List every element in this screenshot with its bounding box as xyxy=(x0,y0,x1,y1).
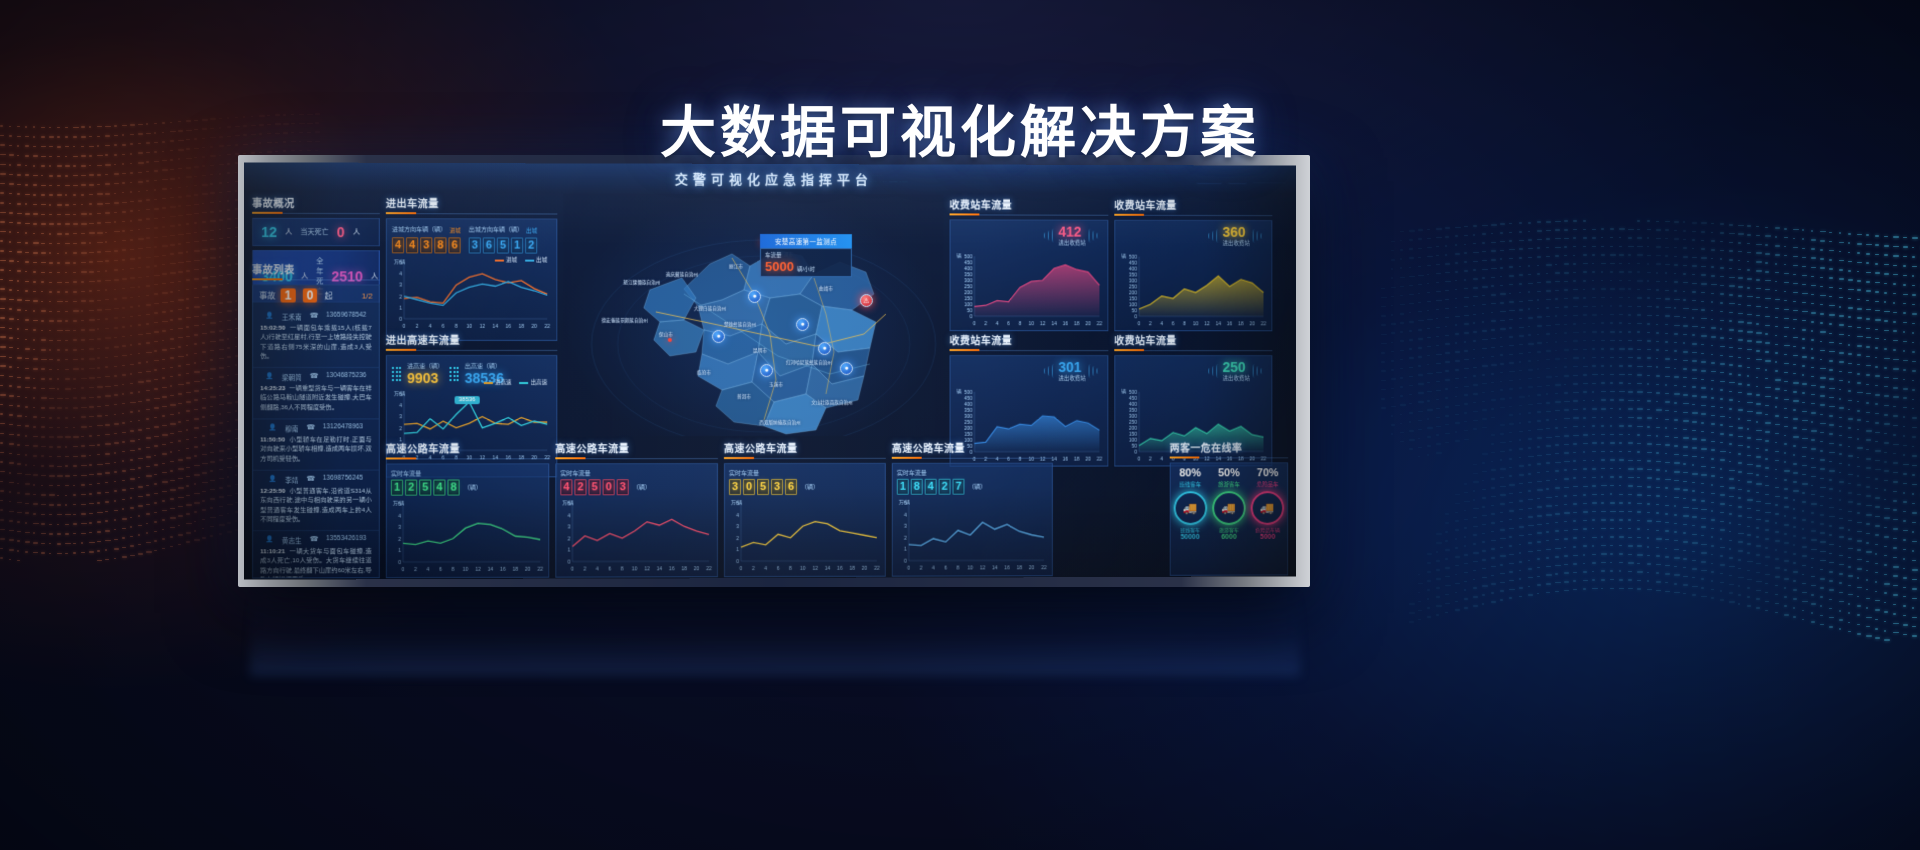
panel-toll-station: 收费站车流量 360 进出收费站 辆0501001502002503003 xyxy=(1114,197,1272,331)
accident-description: 11:50:50 小型轿车在足勤打时,正面与对向驶来小型轿车相撞,造成两车损坏,… xyxy=(260,435,371,463)
panel-inout-traffic: 进出车流量 进城方向车辆（辆） 进城 44386 出城方向车辆（辆） 出城 xyxy=(386,195,557,341)
svg-text:2: 2 xyxy=(736,536,739,542)
accident-reporter-icon: 👤 xyxy=(266,535,274,545)
svg-text:0: 0 xyxy=(571,567,574,572)
svg-text:8: 8 xyxy=(1183,321,1186,326)
svg-text:1: 1 xyxy=(568,548,571,554)
svg-text:12: 12 xyxy=(1040,321,1046,326)
svg-text:100: 100 xyxy=(1129,302,1137,308)
counter-digit: 7 xyxy=(953,479,965,495)
map-camera-pin[interactable]: ● xyxy=(748,290,761,303)
svg-text:3: 3 xyxy=(398,525,401,531)
svg-text:500: 500 xyxy=(1129,255,1137,261)
inbound-caption: 进城方向车辆（辆） xyxy=(392,224,447,233)
accident-time: 14:25:23 xyxy=(260,385,285,392)
map-camera-pin[interactable]: ● xyxy=(818,342,831,355)
accident-list-item[interactable]: 👤 李靖 ☎ 13698756245 12:25:50 小型普通客车,沿省道S3… xyxy=(253,471,379,532)
svg-text:4: 4 xyxy=(596,567,599,572)
legend-item: 进城 xyxy=(495,256,517,264)
svg-text:0: 0 xyxy=(907,566,910,571)
svg-text:16: 16 xyxy=(669,566,675,571)
online-rate-count: 50000 xyxy=(1171,534,1210,541)
svg-text:3: 3 xyxy=(399,415,402,421)
svg-text:5: 5 xyxy=(398,502,401,508)
svg-text:250: 250 xyxy=(964,420,972,426)
svg-text:6: 6 xyxy=(944,566,947,571)
highway-flow-unit: （辆） xyxy=(968,481,986,490)
toll-gauge-label: 进出收费站 xyxy=(1058,374,1085,382)
svg-text:6: 6 xyxy=(1007,321,1010,326)
map-region-label: 文山壮族苗族自治州 xyxy=(810,400,854,406)
online-rate-title: 两客一危在线率 xyxy=(1170,439,1288,458)
online-rate-percent: 80% xyxy=(1171,467,1210,479)
svg-text:8: 8 xyxy=(957,565,960,570)
svg-text:2: 2 xyxy=(416,324,419,329)
phone-icon: ☎ xyxy=(310,312,318,322)
svg-text:250: 250 xyxy=(1129,284,1137,290)
svg-text:辆: 辆 xyxy=(957,388,962,395)
svg-text:0: 0 xyxy=(973,321,976,326)
svg-text:0: 0 xyxy=(403,324,406,329)
svg-text:0: 0 xyxy=(1138,321,1141,326)
counter-digit: 0 xyxy=(743,479,755,495)
legend-item: 出高速 xyxy=(520,378,548,386)
svg-text:200: 200 xyxy=(1129,290,1137,296)
toll-gauge: 301 进出收费站 xyxy=(1044,360,1099,382)
signal-arc-icon xyxy=(1209,364,1220,378)
online-rate-item: 50% 旅游客车 🚚 旅游客车 6000 xyxy=(1210,467,1249,541)
accident-description: 11:10:21 一辆大货车与面包车碰撞,造成3人死亡,10人受伤。大货车继续往… xyxy=(260,547,371,578)
toll-gauge-value: 301 xyxy=(1058,360,1085,374)
map-region-label: 怒江傈僳族自治州 xyxy=(620,280,664,286)
accident-reporter-phone: 13698756245 xyxy=(323,475,363,485)
counter-digit: 5 xyxy=(497,237,509,253)
inbound-bars-icon xyxy=(392,366,401,380)
svg-text:6: 6 xyxy=(442,324,445,329)
counter-digit: 6 xyxy=(448,237,460,253)
svg-text:1: 1 xyxy=(904,547,907,553)
svg-text:200: 200 xyxy=(964,290,972,296)
counter-digit: 1 xyxy=(391,480,403,496)
highway-in-caption: 进高速（辆） xyxy=(407,361,443,370)
inbound-counter: 进城方向车辆（辆） 进城 44386 xyxy=(392,224,461,253)
chart-legend: 进高速出高速 xyxy=(484,378,547,386)
highway-flow-caption: 实时车流量 xyxy=(729,468,881,477)
svg-text:0: 0 xyxy=(1134,314,1137,320)
svg-text:0: 0 xyxy=(740,566,743,571)
map-region-label: 普洱市 xyxy=(722,394,766,400)
svg-text:0: 0 xyxy=(399,317,402,323)
svg-text:250: 250 xyxy=(1129,420,1137,426)
callout-unit: 辆/小时 xyxy=(797,265,815,273)
svg-text:18: 18 xyxy=(1238,321,1244,326)
accident-reporter-phone: 13659678542 xyxy=(326,312,366,322)
svg-text:3: 3 xyxy=(736,524,739,530)
svg-text:10: 10 xyxy=(967,565,973,570)
highway-flow-caption: 实时车流量 xyxy=(391,468,544,477)
svg-text:18: 18 xyxy=(518,324,524,329)
phone-icon: ☎ xyxy=(306,475,314,485)
svg-text:10: 10 xyxy=(800,566,806,571)
svg-text:300: 300 xyxy=(1129,414,1137,420)
counter-digit: 8 xyxy=(447,479,459,495)
svg-text:2: 2 xyxy=(568,536,571,542)
counter-digit: 4 xyxy=(406,237,418,253)
today-death-value: 0 xyxy=(337,224,345,240)
svg-text:500: 500 xyxy=(964,254,972,260)
svg-text:20: 20 xyxy=(862,566,868,571)
svg-text:1: 1 xyxy=(399,305,402,311)
svg-text:5: 5 xyxy=(904,501,907,507)
svg-text:12: 12 xyxy=(1204,321,1210,326)
highway-flow-chart: 万/辆0123450246810121416182022 xyxy=(560,497,713,572)
accident-description: 12:25:50 小型普通客车,沿省道S314从东向西行驶,途中与相向驶来的另一… xyxy=(260,487,371,525)
svg-text:0: 0 xyxy=(736,559,739,565)
highway-flow-title: 高速公路车流量 xyxy=(892,440,1053,459)
svg-text:18: 18 xyxy=(513,567,519,572)
svg-text:辆: 辆 xyxy=(957,252,962,259)
counter-digit: 4 xyxy=(925,479,937,495)
svg-text:14: 14 xyxy=(1216,321,1222,326)
svg-text:200: 200 xyxy=(964,426,972,432)
accident-list-item[interactable]: 👤 穆南 ☎ 13126478963 11:50:50 小型轿车在足勤打时,正面… xyxy=(253,419,379,470)
accident-list-item[interactable]: 👤 梁朝简 ☎ 13046875236 14:25:23 一辆重型货车与一辆客车… xyxy=(253,368,379,419)
panel-highway-flow: 高速公路车流量 实时车流量 42503 （辆） 万/辆0123450246810… xyxy=(555,440,718,573)
map-camera-pin[interactable]: ● xyxy=(840,362,853,375)
legend-item: 出城 xyxy=(525,256,547,264)
today-injured-unit: 人 xyxy=(285,227,292,237)
svg-text:150: 150 xyxy=(964,432,972,438)
highway-flow-chart: 万/辆0123450246810121416182022 xyxy=(391,497,544,572)
toll-gauge-label: 进出收费站 xyxy=(1223,374,1250,382)
counter-digit: 3 xyxy=(771,479,783,495)
highway-flow-unit: （辆） xyxy=(633,482,651,491)
accident-reporter-icon: 👤 xyxy=(266,372,274,382)
svg-text:20: 20 xyxy=(531,324,537,329)
svg-text:3: 3 xyxy=(568,525,571,531)
svg-text:8: 8 xyxy=(621,566,624,571)
svg-text:150: 150 xyxy=(1129,296,1137,302)
today-death-label: 当天死亡 xyxy=(300,227,328,237)
counter-digit: 2 xyxy=(525,238,537,254)
svg-text:14: 14 xyxy=(492,324,498,329)
accident-description: 14:25:23 一辆重型货车与一辆客车在祥临公路马鞍山隧道附近发生碰撞,大巴车… xyxy=(260,384,371,412)
svg-text:300: 300 xyxy=(1129,278,1137,284)
signal-arc-icon-right xyxy=(1089,229,1100,243)
counter-digit: 3 xyxy=(420,237,432,253)
accident-stat-row-today: 12 人 当天死亡 0 人 xyxy=(252,218,380,246)
highway-in-value: 9903 xyxy=(407,370,443,386)
highway-flow-unit: （辆） xyxy=(464,482,482,491)
svg-text:2: 2 xyxy=(1149,457,1152,462)
map-camera-pin[interactable]: ● xyxy=(796,318,809,331)
svg-text:辆: 辆 xyxy=(1121,253,1126,260)
svg-text:450: 450 xyxy=(964,260,972,266)
highway-flow-unit: （辆） xyxy=(801,481,819,490)
svg-text:2: 2 xyxy=(904,535,907,541)
legend-item: 进高速 xyxy=(484,378,512,386)
svg-text:2: 2 xyxy=(414,567,417,572)
phone-icon: ☎ xyxy=(306,423,314,433)
highway-flow-title: 高速公路车流量 xyxy=(724,440,886,459)
counter-digit: 4 xyxy=(433,480,445,496)
online-rate-percent: 70% xyxy=(1248,467,1287,479)
accident-time: 15:02:50 xyxy=(260,325,285,332)
map-region-label: 保山市 xyxy=(644,332,688,338)
svg-text:14: 14 xyxy=(992,565,998,570)
highway-flow-caption: 实时车流量 xyxy=(897,468,1048,477)
online-rate-subtitle: 旅游客车 xyxy=(1210,480,1249,488)
online-rate-subtitle: 班线客车 xyxy=(1171,480,1210,488)
accident-time: 11:10:21 xyxy=(260,548,285,555)
accident-reporter-phone: 13553426193 xyxy=(326,535,366,545)
svg-text:150: 150 xyxy=(964,296,972,302)
toll-station-chart: 辆050100150200250300350400450500024681012… xyxy=(1119,251,1267,327)
counter-digit: 8 xyxy=(911,479,923,495)
svg-text:2: 2 xyxy=(399,426,402,432)
svg-text:450: 450 xyxy=(1129,396,1137,402)
outbound-tag: 出城 xyxy=(526,226,537,234)
toll-station-title: 收费站车流量 xyxy=(1114,197,1272,216)
svg-text:350: 350 xyxy=(1129,408,1137,414)
counter-digit: 4 xyxy=(560,479,572,495)
accident-count-label: 事故 xyxy=(259,290,275,301)
svg-text:2: 2 xyxy=(398,537,401,543)
map-region-label: 临沧市 xyxy=(682,370,726,376)
svg-text:250: 250 xyxy=(964,284,972,290)
highway-flow-caption: 实时车流量 xyxy=(560,468,713,477)
toll-gauge: 360 进出收费站 xyxy=(1209,225,1264,247)
svg-text:14: 14 xyxy=(488,567,494,572)
svg-text:20: 20 xyxy=(694,566,700,571)
toll-gauge-value: 412 xyxy=(1058,225,1085,239)
map-region-label: 曲靖市 xyxy=(804,286,848,292)
svg-text:12: 12 xyxy=(475,567,481,572)
svg-text:10: 10 xyxy=(1193,321,1199,326)
today-death-unit: 人 xyxy=(353,227,360,237)
phone-icon: ☎ xyxy=(310,535,318,545)
svg-text:20: 20 xyxy=(1085,457,1091,462)
map-region-label: 丽江市 xyxy=(714,264,758,270)
accident-list-title: 事故列表 xyxy=(252,261,380,280)
svg-text:400: 400 xyxy=(964,402,972,408)
toll-gauge: 412 进出收费站 xyxy=(1044,225,1099,247)
accident-reporter-name: 梁朝简 xyxy=(282,372,302,382)
svg-text:150: 150 xyxy=(1129,432,1137,438)
today-injured-value: 12 xyxy=(261,224,277,240)
accident-count-unit: 起 xyxy=(324,290,332,301)
svg-text:8: 8 xyxy=(455,324,458,329)
map-region-label: 西双版纳傣族自治州 xyxy=(758,420,802,426)
inbound-tag: 进城 xyxy=(450,226,461,234)
svg-text:50: 50 xyxy=(1132,308,1138,314)
svg-text:16: 16 xyxy=(1063,321,1069,326)
svg-text:500: 500 xyxy=(1129,390,1137,396)
signal-arc-icon xyxy=(1209,229,1220,243)
svg-text:14: 14 xyxy=(1051,321,1057,326)
svg-text:4: 4 xyxy=(427,567,430,572)
online-rate-subtitle: 危险品车 xyxy=(1248,480,1287,488)
accident-reporter-phone: 13046875236 xyxy=(326,372,366,382)
svg-text:20: 20 xyxy=(1029,565,1035,570)
svg-text:16: 16 xyxy=(1063,457,1069,462)
accident-count-header: 事故 1 0 起 1/2 xyxy=(253,285,379,307)
map-region-label: 德宏傣族景颇族自治州 xyxy=(602,318,646,324)
svg-text:2: 2 xyxy=(399,294,402,300)
svg-text:10: 10 xyxy=(632,566,638,571)
inout-traffic-chart: 万/辆0123450246810121416182022进城出城 xyxy=(392,256,551,328)
svg-text:22: 22 xyxy=(537,567,543,572)
toll-gauge-value: 360 xyxy=(1223,225,1250,239)
svg-text:22: 22 xyxy=(874,566,880,571)
map-camera-pin[interactable]: ● xyxy=(712,330,725,343)
svg-text:10: 10 xyxy=(1029,321,1035,326)
svg-text:1: 1 xyxy=(736,547,739,553)
online-rate-count: 5000 xyxy=(1248,534,1287,541)
accident-list-item[interactable]: 👤 黄志生 ☎ 13553426193 11:10:21 一辆大货车与面包车碰撞… xyxy=(253,531,379,578)
counter-digit: 2 xyxy=(574,479,586,495)
svg-text:14: 14 xyxy=(825,566,831,571)
accident-reporter-name: 王禾南 xyxy=(282,312,302,322)
svg-text:16: 16 xyxy=(506,324,512,329)
svg-text:3: 3 xyxy=(399,283,402,289)
svg-text:16: 16 xyxy=(1004,565,1010,570)
svg-text:16: 16 xyxy=(837,566,843,571)
svg-text:4: 4 xyxy=(932,566,935,571)
counter-digit: 3 xyxy=(617,479,629,495)
svg-text:400: 400 xyxy=(1129,402,1137,408)
svg-text:4: 4 xyxy=(568,513,571,519)
svg-text:5: 5 xyxy=(399,392,402,398)
svg-text:16: 16 xyxy=(500,567,506,572)
svg-text:2: 2 xyxy=(984,321,987,326)
svg-text:8: 8 xyxy=(452,567,455,572)
svg-text:300: 300 xyxy=(964,278,972,284)
counter-digit: 3 xyxy=(729,479,741,495)
svg-text:50: 50 xyxy=(967,308,973,314)
map-panel[interactable]: 迪庆藏族自治州丽江市怒江傈僳族自治州大理白族自治州昭通市楚雄彝族自治州曲靖市保山… xyxy=(563,193,943,436)
online-rate-item: 80% 班线客车 🚚 班线客车 50000 xyxy=(1171,467,1210,541)
map-region-label: 楚雄彝族自治州 xyxy=(718,322,762,328)
counter-digit: 5 xyxy=(419,480,431,496)
svg-text:450: 450 xyxy=(964,396,972,402)
svg-text:10: 10 xyxy=(466,324,472,329)
svg-text:18: 18 xyxy=(849,566,855,571)
accident-list-item[interactable]: 👤 王禾南 ☎ 13659678542 15:02:50 一辆面包车乘载15人(… xyxy=(253,308,379,369)
map-alert-pin[interactable]: ⚠ xyxy=(860,294,873,307)
highway-inout-title: 进出高速车流量 xyxy=(386,332,557,351)
svg-text:4: 4 xyxy=(429,324,432,329)
svg-text:18: 18 xyxy=(1074,321,1080,326)
chart-legend: 进城出城 xyxy=(495,256,547,264)
svg-text:14: 14 xyxy=(657,566,663,571)
accident-reporter-icon: 👤 xyxy=(266,312,274,322)
accident-reporter-name: 穆南 xyxy=(285,423,298,433)
vehicle-icon: 🚚 xyxy=(1173,491,1207,525)
svg-text:2: 2 xyxy=(583,567,586,572)
counter-digit: 6 xyxy=(483,237,495,253)
panel-accident-list: 事故列表 事故 1 0 起 1/2 👤 王禾南 ☎ 13659678542 15… xyxy=(252,261,380,573)
svg-text:22: 22 xyxy=(544,324,550,329)
toll-gauge: 250 进出收费站 xyxy=(1209,360,1264,382)
svg-text:200: 200 xyxy=(1129,426,1137,432)
dashboard-title: 交警可视化应急指挥平台 xyxy=(675,168,873,188)
svg-text:6: 6 xyxy=(608,566,611,571)
svg-text:6: 6 xyxy=(777,566,780,571)
online-rate-count: 6000 xyxy=(1210,534,1249,541)
accident-description: 15:02:50 一辆面包车乘载15人(核载7人)行驶至红星村,行至一上坡路段失… xyxy=(260,324,371,361)
svg-text:6: 6 xyxy=(439,567,442,572)
outbound-bars-icon xyxy=(450,366,459,380)
video-wall: 交警可视化应急指挥平台 日常监控 南山 晴 2018-0 事故概况 12 人 当… xyxy=(238,155,1310,587)
signal-arc-icon-right xyxy=(1253,364,1264,378)
counter-digit: 5 xyxy=(757,479,769,495)
counter-digit: 4 xyxy=(392,237,404,253)
panel-online-rate: 两客一危在线率 80% 班线客车 🚚 班线客车 5000050% 旅游客车 🚚 … xyxy=(1170,439,1288,570)
accident-reporter-phone: 13126478963 xyxy=(323,423,363,433)
highway-flow-title: 高速公路车流量 xyxy=(386,440,549,459)
signal-arc-icon xyxy=(1044,229,1055,243)
svg-text:450: 450 xyxy=(1129,261,1137,267)
svg-text:4: 4 xyxy=(399,403,402,409)
accident-reporter-icon: 👤 xyxy=(269,475,277,485)
counter-digit: 8 xyxy=(434,237,446,253)
svg-text:18: 18 xyxy=(1017,565,1023,570)
inout-traffic-title: 进出车流量 xyxy=(386,195,557,214)
counter-digit: 5 xyxy=(589,479,601,495)
svg-text:0: 0 xyxy=(904,559,907,565)
accident-count-digit-2: 0 xyxy=(303,288,318,302)
panel-highway-flow: 高速公路车流量 实时车流量 18427 （辆） 万/辆0123450246810… xyxy=(892,440,1053,572)
map-camera-pin[interactable]: ● xyxy=(760,364,773,377)
accident-time: 11:50:50 xyxy=(260,437,285,444)
toll-station-title: 收费站车流量 xyxy=(950,332,1109,351)
counter-digit: 1 xyxy=(897,479,909,495)
svg-text:12: 12 xyxy=(479,324,485,329)
page-title: 大数据可视化解决方案 xyxy=(0,88,1920,169)
svg-text:300: 300 xyxy=(964,414,972,420)
panel-toll-station: 收费站车流量 412 进出收费站 辆0501001502002503003 xyxy=(950,196,1109,331)
vehicle-icon: 🚚 xyxy=(1251,491,1285,525)
accident-count-digit-1: 1 xyxy=(281,288,296,302)
map-callout: 安楚高速第一监测点 车流量 5000 辆/小时 xyxy=(760,234,852,277)
svg-text:20: 20 xyxy=(525,567,531,572)
highway-out-caption: 出高速（辆） xyxy=(465,361,504,370)
map-region-label: 红河哈尼族彝族自治州 xyxy=(786,360,830,366)
callout-key: 车流量 xyxy=(765,251,847,259)
svg-text:6: 6 xyxy=(1172,321,1175,326)
panel-highway-flow: 高速公路车流量 实时车流量 12548 （辆） 万/辆0123450246810… xyxy=(386,440,549,573)
svg-text:5: 5 xyxy=(736,501,739,507)
svg-text:4: 4 xyxy=(764,566,767,571)
toll-station-title: 收费站车流量 xyxy=(950,196,1109,215)
svg-text:0: 0 xyxy=(970,314,973,320)
toll-gauge-label: 进出收费站 xyxy=(1058,239,1085,247)
counter-digit: 2 xyxy=(939,479,951,495)
counter-digit: 3 xyxy=(469,237,481,253)
svg-text:350: 350 xyxy=(964,272,972,278)
vehicle-icon: 🚚 xyxy=(1212,491,1246,525)
svg-text:1: 1 xyxy=(398,548,401,554)
svg-text:22: 22 xyxy=(1097,321,1103,326)
toll-gauge-value: 250 xyxy=(1223,360,1250,374)
svg-text:辆: 辆 xyxy=(1121,388,1126,395)
accident-list-pagination[interactable]: 1/2 xyxy=(361,291,372,300)
svg-text:20: 20 xyxy=(1085,321,1091,326)
svg-text:16: 16 xyxy=(1227,321,1233,326)
accident-time: 12:25:50 xyxy=(260,488,285,495)
svg-text:0: 0 xyxy=(568,560,571,566)
